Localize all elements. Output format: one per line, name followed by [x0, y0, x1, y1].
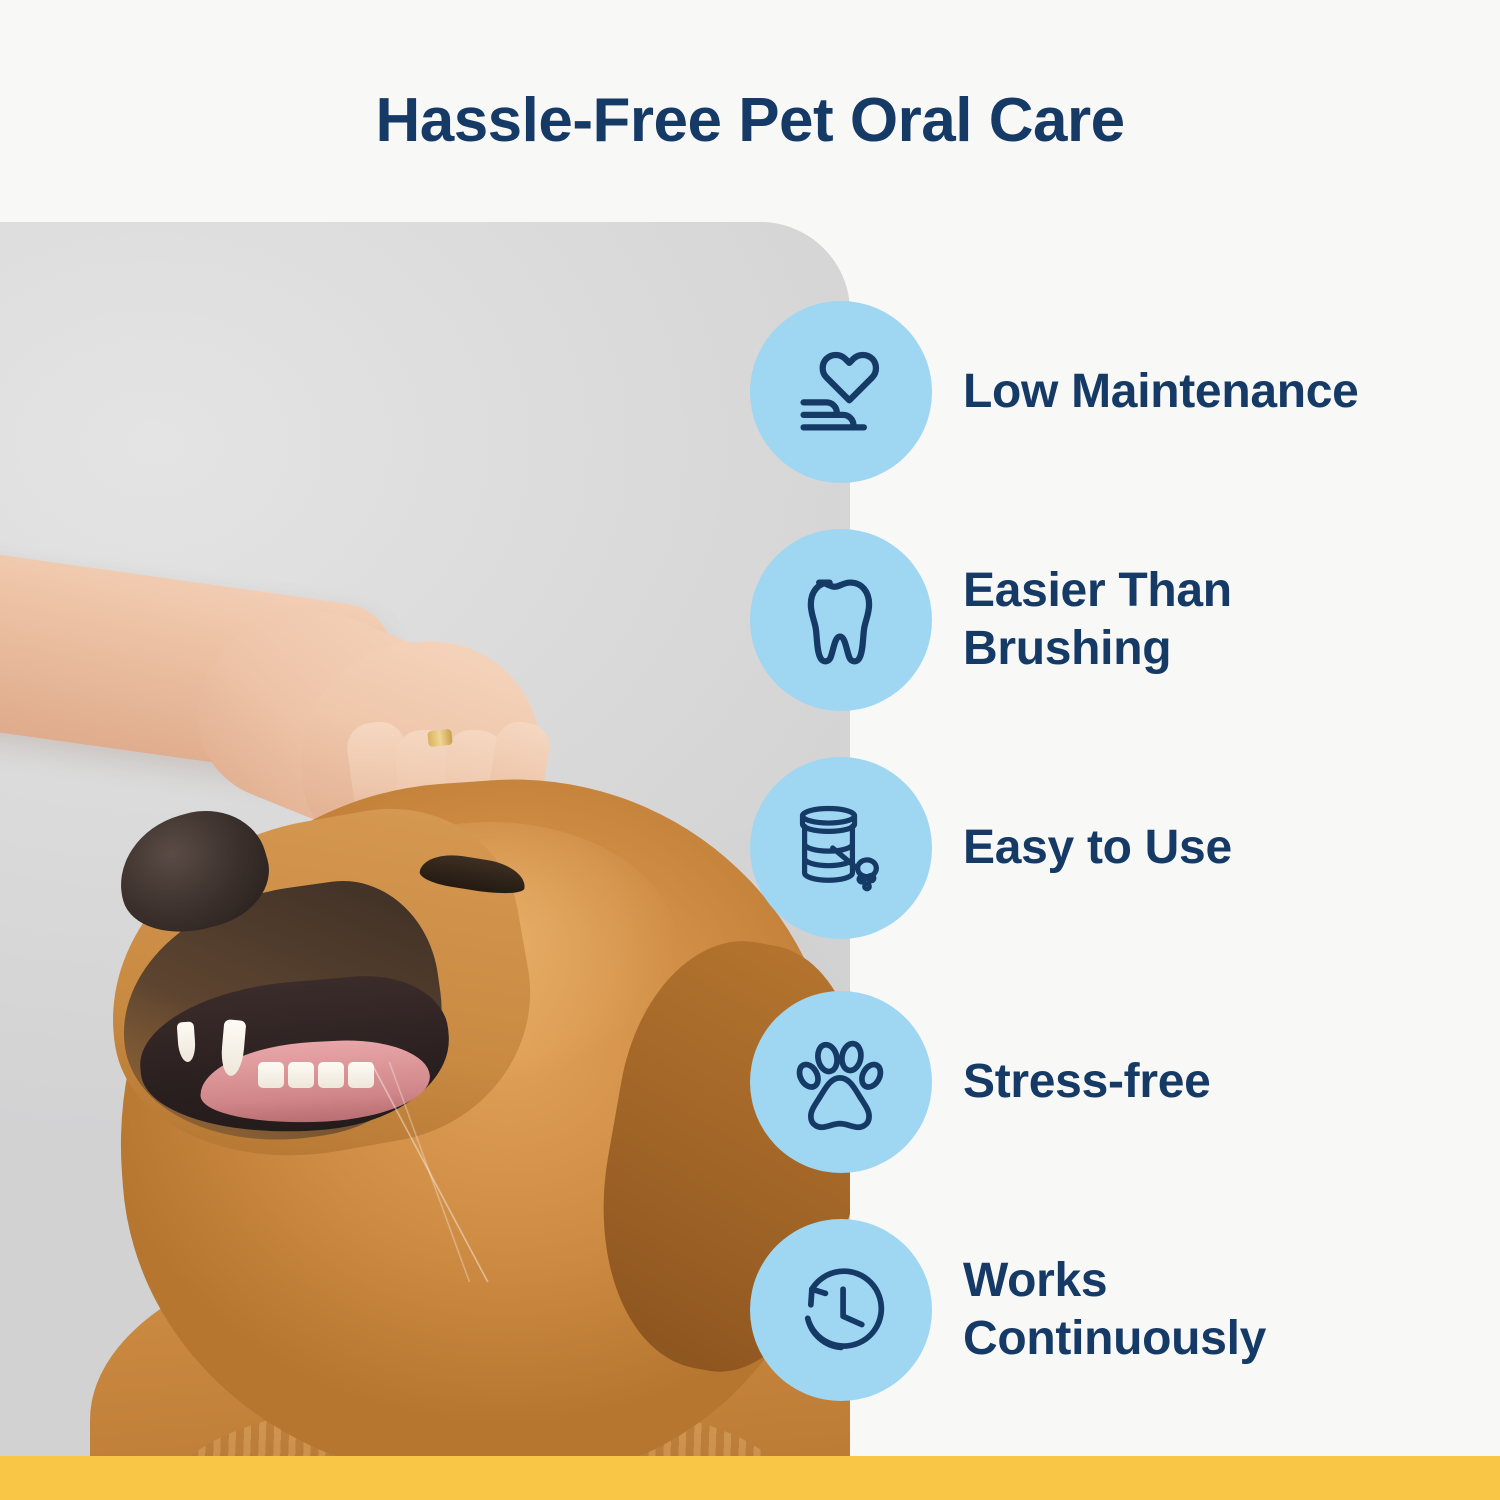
benefit-item-easier-than-brushing: Easier Than Brushing: [750, 529, 1500, 711]
benefit-label: Stress-free: [963, 1053, 1211, 1111]
benefit-item-low-maintenance: Low Maintenance: [750, 301, 1500, 483]
benefit-item-easy-to-use: Easy to Use: [750, 757, 1500, 939]
benefit-label: Works Continuously: [963, 1252, 1393, 1368]
benefit-icon-badge: [750, 529, 932, 711]
benefit-item-stress-free: Stress-free: [750, 991, 1500, 1173]
tooth-icon: [789, 568, 893, 672]
heart-hand-icon: [789, 340, 893, 444]
benefit-item-works-continuously: Works Continuously: [750, 1219, 1500, 1401]
paw-print-icon: [789, 1030, 893, 1134]
benefit-icon-badge: [750, 301, 932, 483]
dog-tooth: [288, 1062, 314, 1088]
infographic-root: Hassle-Free Pet Oral Care: [0, 0, 1500, 1500]
benefit-label: Easy to Use: [963, 819, 1232, 877]
wedding-ring: [427, 729, 453, 747]
benefit-icon-badge: [750, 1219, 932, 1401]
dog-tooth: [258, 1062, 284, 1088]
benefit-label: Low Maintenance: [963, 363, 1359, 421]
clock-refresh-icon: [789, 1258, 893, 1362]
benefits-list: Low Maintenance Easier Than Brushing: [750, 0, 1500, 1500]
hero-photo-panel: [0, 222, 850, 1456]
jar-scoop-icon: [789, 796, 893, 900]
benefit-icon-badge: [750, 757, 932, 939]
benefit-label: Easier Than Brushing: [963, 562, 1393, 678]
bottom-accent-bar: [0, 1456, 1500, 1500]
dog-tooth: [348, 1062, 374, 1088]
dog-tooth: [318, 1062, 344, 1088]
benefit-icon-badge: [750, 991, 932, 1173]
